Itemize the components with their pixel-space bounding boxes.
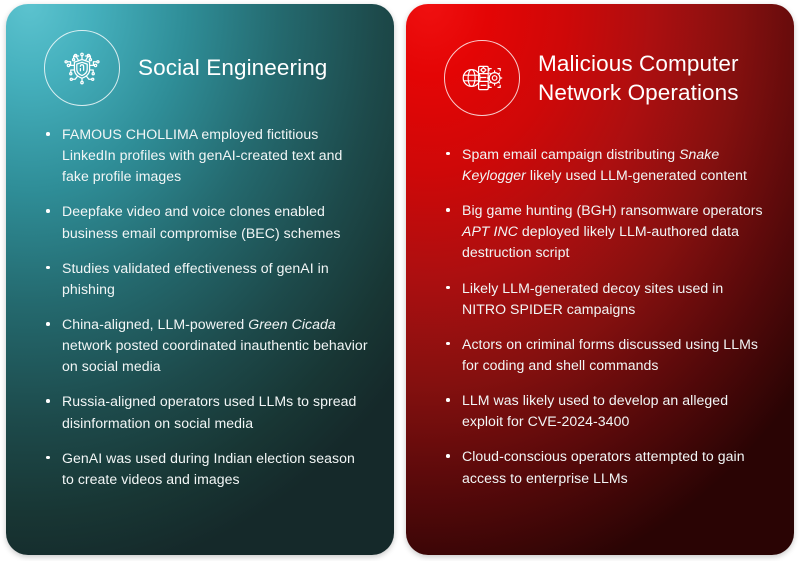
bullet-text: LLM was likely used to develop an allege…: [462, 392, 728, 429]
card-malicious-computer-network-operations: Malicious Computer Network Operations Sp…: [406, 4, 794, 555]
bullet-text: Spam email campaign distributing: [462, 146, 679, 162]
list-item: Spam email campaign distributing Snake K…: [446, 144, 770, 186]
list-item: Actors on criminal forms discussed using…: [446, 334, 770, 376]
bullet-text: Big game hunting (BGH) ransomware operat…: [462, 202, 763, 218]
shield-network-icon: [44, 30, 120, 106]
bullet-text: Studies validated effectiveness of genAI…: [62, 260, 329, 297]
bullet-text: Actors on criminal forms discussed using…: [462, 336, 758, 373]
globe-server-virus-icon: [444, 40, 520, 116]
list-item: Big game hunting (BGH) ransomware operat…: [446, 200, 770, 263]
card-title-malicious-cno: Malicious Computer Network Operations: [538, 49, 776, 108]
list-item: Russia-aligned operators used LLMs to sp…: [46, 391, 370, 433]
list-item: Likely LLM-generated decoy sites used in…: [446, 278, 770, 320]
card-header-social-engineering: Social Engineering: [44, 30, 376, 106]
list-item: FAMOUS CHOLLIMA employed fictitious Link…: [46, 124, 370, 187]
bullet-emphasis: APT INC: [462, 223, 518, 239]
bullet-text-tail: network posted coordinated inauthentic b…: [62, 337, 368, 374]
card-header-malicious-cno: Malicious Computer Network Operations: [444, 30, 776, 126]
list-item: China-aligned, LLM-powered Green Cicada …: [46, 314, 370, 377]
bullet-text-tail: likely used LLM-generated content: [526, 167, 747, 183]
card-title-social-engineering: Social Engineering: [138, 53, 327, 82]
list-item: Cloud-conscious operators attempted to g…: [446, 446, 770, 488]
card-social-engineering: Social Engineering FAMOUS CHOLLIMA emplo…: [6, 4, 394, 555]
bullet-text: China-aligned, LLM-powered: [62, 316, 248, 332]
bullet-text: FAMOUS CHOLLIMA employed fictitious Link…: [62, 126, 342, 184]
list-item: LLM was likely used to develop an allege…: [446, 390, 770, 432]
bullet-text: Russia-aligned operators used LLMs to sp…: [62, 393, 356, 430]
list-item: Studies validated effectiveness of genAI…: [46, 258, 370, 300]
bullet-list-social-engineering: FAMOUS CHOLLIMA employed fictitious Link…: [24, 124, 376, 490]
bullet-emphasis: Green Cicada: [248, 316, 336, 332]
bullet-text: Cloud-conscious operators attempted to g…: [462, 448, 745, 485]
bullet-text: GenAI was used during Indian election se…: [62, 450, 355, 487]
list-item: GenAI was used during Indian election se…: [46, 448, 370, 490]
list-item: Deepfake video and voice clones enabled …: [46, 201, 370, 243]
bullet-text: Deepfake video and voice clones enabled …: [62, 203, 340, 240]
two-card-comparison-board: Social Engineering FAMOUS CHOLLIMA emplo…: [0, 0, 800, 561]
bullet-text: Likely LLM-generated decoy sites used in…: [462, 280, 723, 317]
bullet-list-malicious-cno: Spam email campaign distributing Snake K…: [424, 144, 776, 489]
